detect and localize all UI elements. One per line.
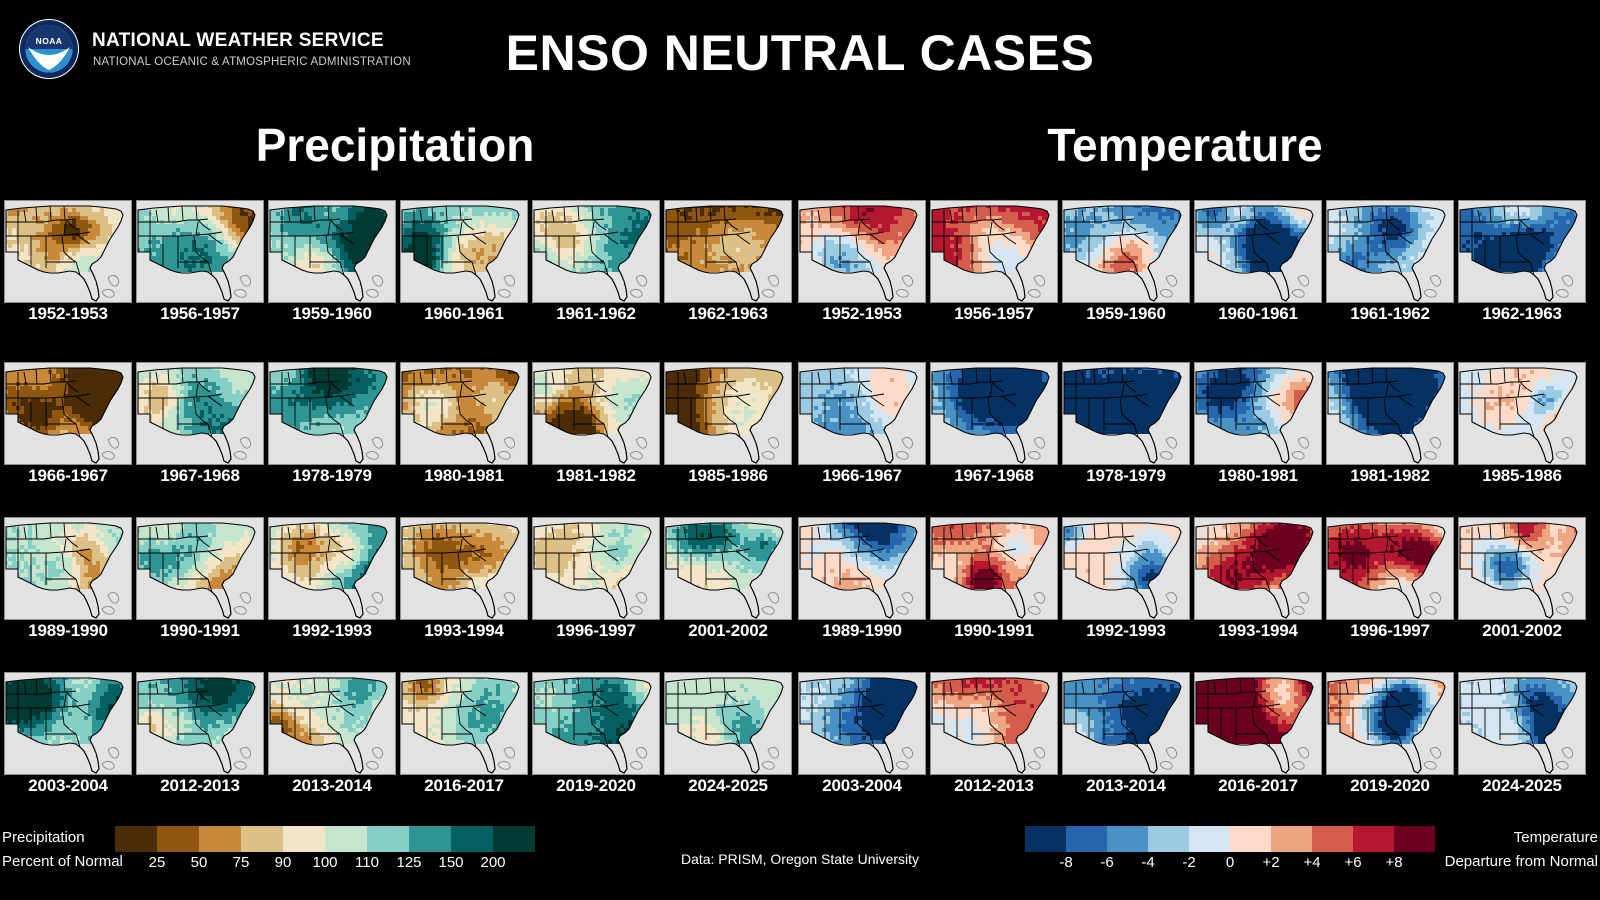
- temperature-map-year-label: 1989-1990: [798, 621, 926, 641]
- temperature-anomaly-map: [798, 517, 926, 620]
- temperature-anomaly-map: [1194, 362, 1322, 465]
- temperature-map-panel-1993-1994[interactable]: 1993-1994: [1194, 517, 1322, 643]
- temperature-anomaly-map: [798, 362, 926, 465]
- temperature-anomaly-map: [930, 200, 1058, 303]
- temperature-map-panel-1952-1953[interactable]: 1952-1953: [798, 200, 926, 326]
- temperature-anomaly-map: [930, 517, 1058, 620]
- temperature-anomaly-map: [1194, 517, 1322, 620]
- temperature-map-row-2: 1966-1967 1967-1968 1978-1979 1980-1981: [0, 362, 1600, 492]
- temperature-anomaly-map: [1062, 672, 1190, 775]
- temperature-map-year-label: 1967-1968: [930, 466, 1058, 486]
- temperature-map-panel-2013-2014[interactable]: 2013-2014: [1062, 672, 1190, 798]
- temperature-anomaly-map: [1458, 517, 1586, 620]
- precipitation-legend-swatch-8: [409, 826, 451, 852]
- precipitation-legend-swatch-9: [451, 826, 493, 852]
- temperature-map-year-label: 1952-1953: [798, 304, 926, 324]
- temperature-map-panel-1961-1962[interactable]: 1961-1962: [1326, 200, 1454, 326]
- temperature-map-year-label: 2016-2017: [1194, 776, 1322, 796]
- temperature-map-year-label: 2003-2004: [798, 776, 926, 796]
- temperature-map-year-label: 1981-1982: [1326, 466, 1454, 486]
- temperature-anomaly-map: [1458, 672, 1586, 775]
- temperature-anomaly-map: [1062, 362, 1190, 465]
- temperature-map-year-label: 2001-2002: [1458, 621, 1586, 641]
- temperature-map-panel-2019-2020[interactable]: 2019-2020: [1326, 672, 1454, 798]
- temperature-legend-swatch-4: [1148, 826, 1189, 852]
- precipitation-legend-swatch-3: [199, 826, 241, 852]
- temperature-map-year-label: 1956-1957: [930, 304, 1058, 324]
- precipitation-legend: 25507590100110125150200 Precipitation Pe…: [0, 820, 560, 880]
- temperature-map-year-label: 1961-1962: [1326, 304, 1454, 324]
- temperature-anomaly-map: [1326, 200, 1454, 303]
- temperature-map-year-label: 2013-2014: [1062, 776, 1190, 796]
- temperature-legend-swatch-3: [1107, 826, 1148, 852]
- temperature-map-year-label: 1962-1963: [1458, 304, 1586, 324]
- temperature-map-panel-2001-2002[interactable]: 2001-2002: [1458, 517, 1586, 643]
- temperature-legend-caption-1: Temperature: [1514, 829, 1598, 846]
- temperature-map-panel-2024-2025[interactable]: 2024-2025: [1458, 672, 1586, 798]
- temperature-map-row-1: 1952-1953 1956-1957 1959-1960 1960-1961: [0, 200, 1600, 330]
- temperature-map-year-label: 2024-2025: [1458, 776, 1586, 796]
- temperature-map-year-label: 1985-1986: [1458, 466, 1586, 486]
- temperature-anomaly-map: [1326, 672, 1454, 775]
- temperature-anomaly-map: [1062, 517, 1190, 620]
- temperature-map-panel-1956-1957[interactable]: 1956-1957: [930, 200, 1058, 326]
- temperature-map-year-label: 1996-1997: [1326, 621, 1454, 641]
- temperature-map-year-label: 1959-1960: [1062, 304, 1190, 324]
- precipitation-legend-swatch-5: [283, 826, 325, 852]
- precipitation-legend-swatch-10: [493, 826, 535, 852]
- temperature-map-panel-2003-2004[interactable]: 2003-2004: [798, 672, 926, 798]
- precipitation-legend-swatch-7: [367, 826, 409, 852]
- temperature-legend-swatch-6: [1230, 826, 1271, 852]
- temperature-legend-swatch-5: [1189, 826, 1230, 852]
- temperature-map-year-label: 1992-1993: [1062, 621, 1190, 641]
- poster-root: NOAA NATIONAL WEATHER SERVICE NATIONAL O…: [0, 0, 1600, 900]
- precipitation-legend-caption-1: Precipitation: [2, 829, 85, 846]
- temperature-map-panel-1962-1963[interactable]: 1962-1963: [1458, 200, 1586, 326]
- temperature-legend-swatch-10: [1394, 826, 1435, 852]
- temperature-anomaly-map: [1326, 362, 1454, 465]
- temperature-map-panel-1990-1991[interactable]: 1990-1991: [930, 517, 1058, 643]
- temperature-map-year-label: 1980-1981: [1194, 466, 1322, 486]
- temperature-map-row-4: 2003-2004 2012-2013 2013-2014 2016-2017: [0, 672, 1600, 802]
- data-source-credit: Data: PRISM, Oregon State University: [0, 851, 1600, 867]
- temperature-map-panel-1980-1981[interactable]: 1980-1981: [1194, 362, 1322, 488]
- temperature-anomaly-map: [798, 200, 926, 303]
- temperature-anomaly-map: [930, 672, 1058, 775]
- precipitation-legend-swatch-1: [115, 826, 157, 852]
- temperature-map-panel-1959-1960[interactable]: 1959-1960: [1062, 200, 1190, 326]
- precipitation-legend-swatch-6: [325, 826, 367, 852]
- temperature-map-row-3: 1989-1990 1990-1991 1992-1993 1993-1994: [0, 517, 1600, 647]
- temperature-legend-swatch-8: [1312, 826, 1353, 852]
- temperature-anomaly-map: [1458, 200, 1586, 303]
- temperature-anomaly-map: [1326, 517, 1454, 620]
- temperature-map-panel-1996-1997[interactable]: 1996-1997: [1326, 517, 1454, 643]
- temperature-legend-swatch-7: [1271, 826, 1312, 852]
- temperature-map-year-label: 1990-1991: [930, 621, 1058, 641]
- temperature-map-panel-1981-1982[interactable]: 1981-1982: [1326, 362, 1454, 488]
- temperature-map-panel-2016-2017[interactable]: 2016-2017: [1194, 672, 1322, 798]
- temperature-anomaly-map: [1194, 200, 1322, 303]
- temperature-legend-swatch-2: [1066, 826, 1107, 852]
- precipitation-legend-swatch-4: [241, 826, 283, 852]
- temperature-map-panel-1992-1993[interactable]: 1992-1993: [1062, 517, 1190, 643]
- temperature-anomaly-map: [1062, 200, 1190, 303]
- temperature-map-year-label: 1993-1994: [1194, 621, 1322, 641]
- temperature-anomaly-map: [1458, 362, 1586, 465]
- temperature-map-panel-1985-1986[interactable]: 1985-1986: [1458, 362, 1586, 488]
- temperature-map-grid: 1952-1953 1956-1957 1959-1960 1960-1961: [0, 0, 1600, 900]
- temperature-map-year-label: 1978-1979: [1062, 466, 1190, 486]
- temperature-map-panel-1960-1961[interactable]: 1960-1961: [1194, 200, 1322, 326]
- precipitation-legend-swatch-2: [157, 826, 199, 852]
- temperature-map-year-label: 1960-1961: [1194, 304, 1322, 324]
- temperature-map-panel-1989-1990[interactable]: 1989-1990: [798, 517, 926, 643]
- temperature-legend-swatch-1: [1025, 826, 1066, 852]
- temperature-legend: -8-6-4-20+2+4+6+8 Temperature Departure …: [1000, 820, 1600, 880]
- temperature-map-year-label: 2012-2013: [930, 776, 1058, 796]
- temperature-map-panel-1966-1967[interactable]: 1966-1967: [798, 362, 926, 488]
- temperature-legend-swatch-9: [1353, 826, 1394, 852]
- temperature-anomaly-map: [798, 672, 926, 775]
- temperature-map-panel-2012-2013[interactable]: 2012-2013: [930, 672, 1058, 798]
- temperature-map-year-label: 1966-1967: [798, 466, 926, 486]
- temperature-map-panel-1978-1979[interactable]: 1978-1979: [1062, 362, 1190, 488]
- temperature-anomaly-map: [1194, 672, 1322, 775]
- temperature-map-year-label: 2019-2020: [1326, 776, 1454, 796]
- temperature-anomaly-map: [930, 362, 1058, 465]
- temperature-map-panel-1967-1968[interactable]: 1967-1968: [930, 362, 1058, 488]
